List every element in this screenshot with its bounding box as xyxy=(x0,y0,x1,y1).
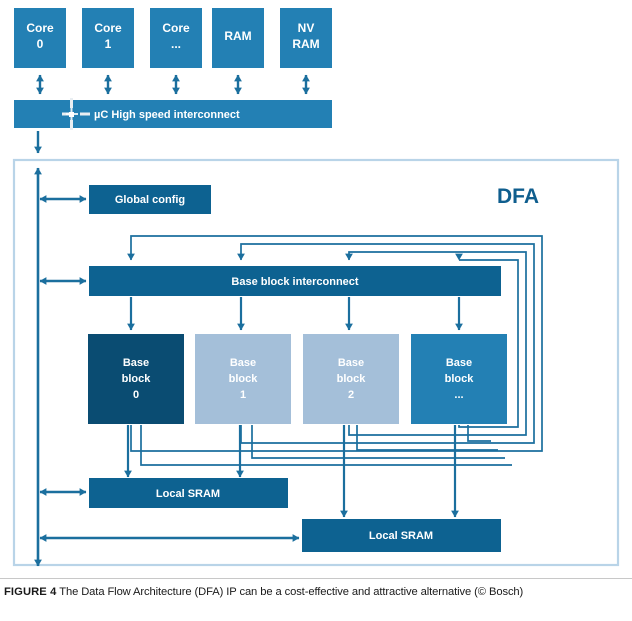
block-core-n-line-1: ... xyxy=(171,37,181,51)
dfa-title: DFA xyxy=(497,185,539,208)
block-core-1-line-1: 1 xyxy=(105,37,112,51)
block-base-block-1-line-1: block xyxy=(229,373,259,385)
block-base-block-0-line-1: block xyxy=(122,373,152,385)
figure-number: FIGURE 4 xyxy=(4,586,56,598)
block-base-block-0-line-0: Base xyxy=(123,357,149,369)
block-base-block-1-line-2: 1 xyxy=(240,389,246,401)
uc-high-speed-interconnect-label: µC High speed interconnect xyxy=(94,109,240,121)
block-base-block-1-line-0: Base xyxy=(230,357,256,369)
block-base-block-1[interactable]: Base block 1 xyxy=(195,334,291,424)
block-base-block-interconnect-label: Base block interconnect xyxy=(231,276,358,288)
block-nv-ram[interactable]: NV RAM xyxy=(280,8,332,68)
base-blocks-cross-routes xyxy=(141,425,512,465)
block-ram-line-0: RAM xyxy=(224,29,251,43)
caption-divider xyxy=(0,578,632,579)
block-base-block-n-line-2: ... xyxy=(454,389,463,401)
block-ram[interactable]: RAM xyxy=(212,8,264,68)
block-base-block-interconnect[interactable]: Base block interconnect xyxy=(89,266,501,296)
block-base-block-n[interactable]: Base block ... xyxy=(411,334,507,424)
block-base-block-2-line-0: Base xyxy=(338,357,364,369)
top-row-group: Core 0 Core 1 Core ... RAM NV RAM xyxy=(14,8,332,68)
block-core-1-line-0: Core xyxy=(94,21,122,35)
figure-caption-bar: FIGURE 4 The Data Flow Architecture (DFA… xyxy=(0,578,632,621)
block-core-n[interactable]: Core ... xyxy=(150,8,202,68)
block-nv-ram-line-1: RAM xyxy=(292,37,319,51)
block-local-sram-left[interactable]: Local SRAM xyxy=(89,478,288,508)
block-base-block-2-line-1: block xyxy=(337,373,367,385)
block-core-0-line-0: Core xyxy=(26,21,54,35)
block-core-1[interactable]: Core 1 xyxy=(82,8,134,68)
uc-high-speed-interconnect-bar[interactable]: µC High speed interconnect xyxy=(14,100,332,128)
block-base-block-n-line-0: Base xyxy=(446,357,472,369)
block-local-sram-right-label: Local SRAM xyxy=(369,530,433,542)
block-base-block-2-line-2: 2 xyxy=(348,389,354,401)
block-local-sram-left-label: Local SRAM xyxy=(156,488,220,500)
base-blocks-group: Base block 0 Base block 1 Base block 2 B… xyxy=(88,334,507,424)
core-to-interconnect-arrows xyxy=(40,75,306,94)
block-core-0-line-1: 0 xyxy=(37,37,44,51)
interconnect-to-base-blocks-arrows xyxy=(131,297,459,330)
block-base-block-0-line-2: 0 xyxy=(133,389,139,401)
block-nv-ram-line-0: NV xyxy=(298,21,315,35)
block-core-n-line-0: Core xyxy=(162,21,190,35)
block-base-block-n-line-1: block xyxy=(445,373,475,385)
figure-caption-text: The Data Flow Architecture (DFA) IP can … xyxy=(59,586,523,598)
block-global-config-label: Global config xyxy=(115,194,185,206)
block-core-0[interactable]: Core 0 xyxy=(14,8,66,68)
dfa-architecture-diagram: Core 0 Core 1 Core ... RAM NV RAM xyxy=(0,0,632,578)
block-global-config[interactable]: Global config xyxy=(89,185,211,214)
block-base-block-2[interactable]: Base block 2 xyxy=(303,334,399,424)
figure-container: Core 0 Core 1 Core ... RAM NV RAM xyxy=(0,0,632,621)
block-base-block-0[interactable]: Base block 0 xyxy=(88,334,184,424)
block-local-sram-right[interactable]: Local SRAM xyxy=(302,519,501,552)
figure-caption: FIGURE 4 The Data Flow Architecture (DFA… xyxy=(4,586,523,598)
